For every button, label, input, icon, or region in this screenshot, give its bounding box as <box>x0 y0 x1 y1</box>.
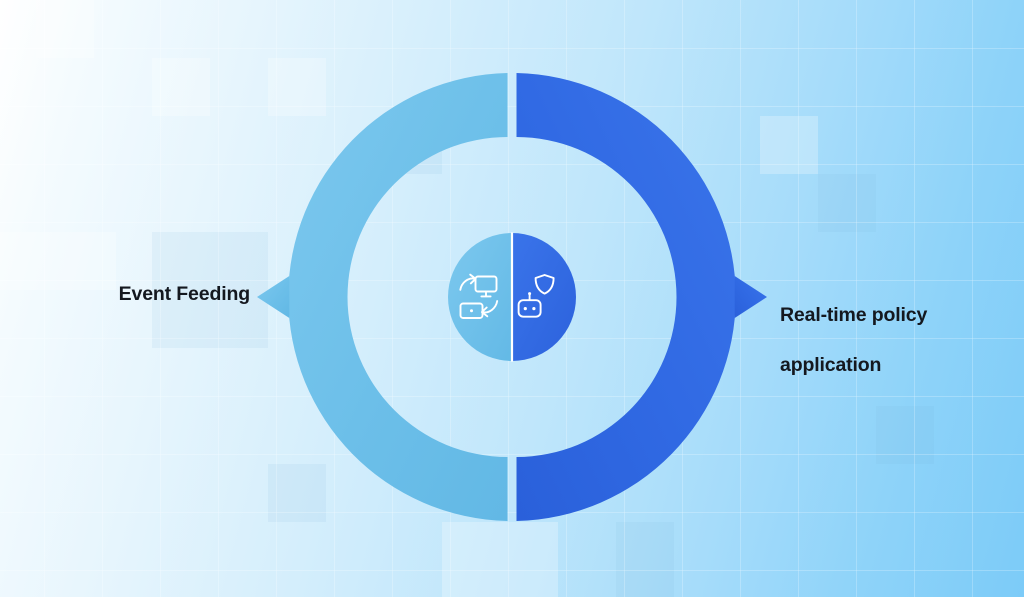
diagram-canvas: Event Feeding Real-time policy applicati… <box>0 0 1024 597</box>
center-left-half <box>448 233 512 361</box>
center-right-half <box>512 233 576 361</box>
label-event-feeding: Event Feeding <box>119 282 250 307</box>
label-line-1: Real-time policy <box>780 304 927 326</box>
label-line-2: application <box>780 354 881 376</box>
center-circle[interactable] <box>448 232 576 361</box>
label-real-time-policy-application: Real-time policy application <box>780 278 927 378</box>
